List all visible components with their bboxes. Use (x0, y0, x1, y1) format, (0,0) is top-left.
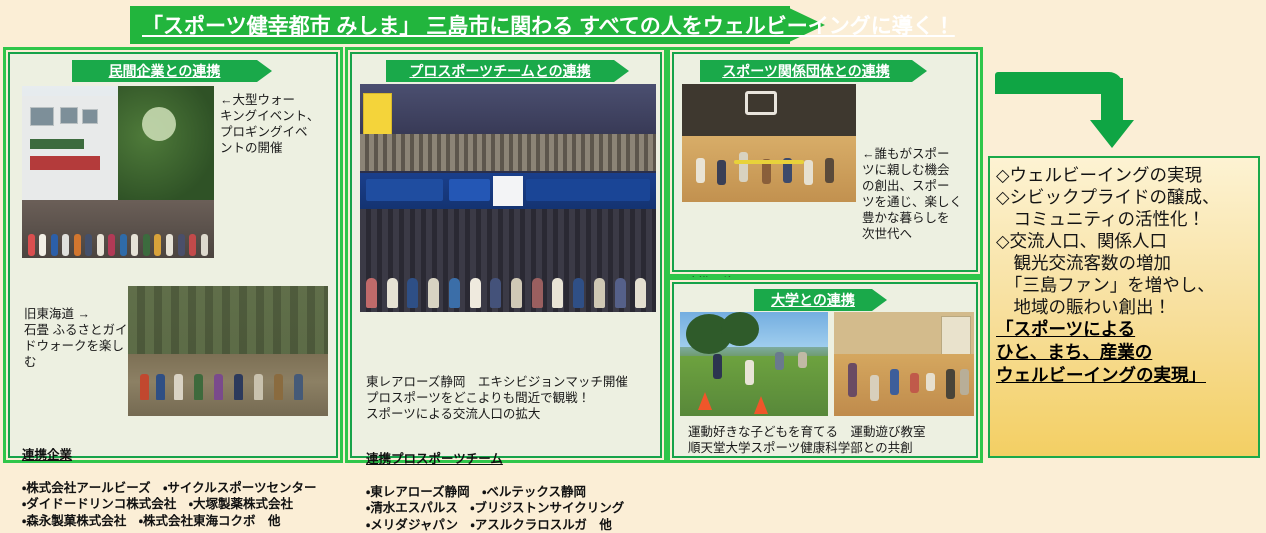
headline-banner: 「スポーツ健幸都市 みしま」 三島市に関わる すべての人をウェルビーイングに導く… (130, 6, 830, 44)
panel-orgs-tag: スポーツ関係団体との連携 (700, 60, 912, 82)
outcome-line-7: 地域の賑わい創出！ (996, 296, 1254, 318)
panel-private-companies: 民間企業との連携 ←大型ウォー キングイベント、 プロギングイベ ントの開催 (8, 52, 338, 458)
outcome-box: ◇ウェルビーイングの実現 ◇シビックプライドの醸成、 コミュニティの活性化！ ◇… (988, 156, 1260, 458)
caption-guide-walk: 旧東海道 → 石畳 ふるさとガイ ドウォークを楽しむ (24, 306, 132, 370)
caption-university: 運動好きな子どもを育てる 運動遊び教室 順天堂大学スポーツ健康科学部との共創 (688, 424, 978, 456)
photo-guide-walk (128, 286, 328, 416)
outcome-slogan: 「スポーツによる ひと、まち、産業の ウェルビーイングの実現」 (996, 318, 1254, 386)
photo-gym-kids (834, 312, 974, 416)
panel-orgs-tag-label: スポーツ関係団体との連携 (712, 61, 900, 81)
tag-pointer-icon (257, 60, 272, 82)
outcome-line-4: ◇交流人口、関係人口 (996, 230, 1254, 252)
list-private-heading: 連携企業 (22, 447, 336, 464)
tag-pointer-icon (614, 60, 629, 82)
panel-university-tag-label: 大学との連携 (761, 290, 865, 310)
panel-private-tag-label: 民間企業との連携 (99, 61, 231, 81)
panel-pro-sports: プロスポーツチームとの連携 東レアローズ静岡 エキシビジョンマッチ開催 プロスポ… (350, 52, 662, 458)
outcome-line-1: ◇ウェルビーイングの実現 (996, 164, 1254, 186)
list-pro-sports-body: ・東レアローズ静岡 ・ベルテックス静岡 ・清水エスパルス ・ブリジストンサイクリ… (366, 485, 624, 532)
panel-university-tag: 大学との連携 (754, 289, 872, 311)
panel-private-tag: 民間企業との連携 (72, 60, 257, 82)
list-private-companies: 連携企業 ・株式会社アールビーズ ・サイクルスポーツセンター ・ダイドードリンコ… (22, 430, 336, 529)
panel-sports-organizations: スポーツ関係団体との連携 ←誰もがスポー ツに親しむ機会 の創出、スポー ツを通… (672, 52, 978, 272)
panel-pro-sports-tag: プロスポーツチームとの連携 (386, 60, 614, 82)
arrow-right-down-icon (995, 72, 1155, 152)
list-pro-sports-heading: 連携プロスポーツチーム (366, 451, 662, 468)
photo-sports-organizations (682, 84, 856, 202)
caption-pro-sports: 東レアローズ静岡 エキシビジョンマッチ開催 プロスポーツをどこよりも間近で観戦！… (366, 374, 658, 422)
photo-walking-event (22, 86, 214, 258)
tag-pointer-icon (912, 60, 927, 82)
list-pro-sports-teams: 連携プロスポーツチーム ・東レアローズ静岡 ・ベルテックス静岡 ・清水エスパルス… (366, 434, 662, 533)
list-private-body: ・株式会社アールビーズ ・サイクルスポーツセンター ・ダイドードリンコ株式会社 … (22, 481, 317, 528)
outcome-line-2: ◇シビックプライドの醸成、 (996, 186, 1254, 208)
banner-title: 「スポーツ健幸都市 みしま」 三島市に関わる すべての人をウェルビーイングに導く… (142, 10, 792, 40)
photo-outdoor-kids (680, 312, 828, 416)
caption-walking-event: ←大型ウォー キングイベント、 プロギングイベ ントの開催 (220, 92, 332, 156)
photo-arena-crowd (360, 84, 656, 312)
panel-pro-sports-tag-label: プロスポーツチームとの連携 (399, 61, 600, 81)
outcome-line-6: 「三島ファン」を増やし、 (996, 274, 1254, 296)
tag-pointer-icon (872, 289, 887, 311)
outcome-line-5: 観光交流客数の増加 (996, 252, 1254, 274)
outcome-line-3: コミュニティの活性化！ (996, 208, 1254, 230)
panel-university: 大学との連携 運動好きな子どもを育てる 運動遊び教室 順天堂大学スポーツ健康科学… (672, 282, 978, 458)
caption-sports-organizations: ←誰もがスポー ツに親しむ機会 の創出、スポー ツを通じ、楽しく 豊かな暮らしを… (862, 146, 974, 242)
